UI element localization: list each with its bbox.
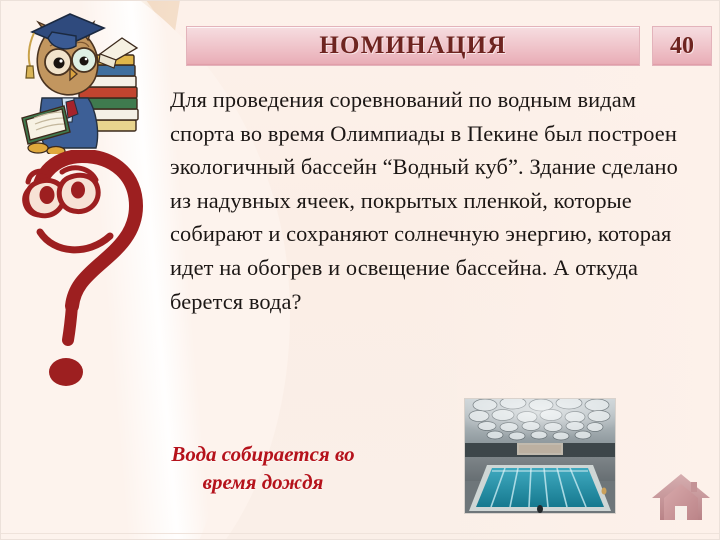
smiling-question-mark-icon [10, 150, 162, 398]
answer-text: Вода собирается во время дождя [88, 440, 438, 496]
answer-line-2: время дождя [88, 468, 438, 496]
home-button[interactable] [650, 468, 712, 526]
question-text: Для проведения соревнований по водным ви… [170, 83, 692, 318]
answer-line-1: Вода собирается во [88, 440, 438, 468]
score-badge[interactable]: 40 [652, 26, 712, 66]
bottom-divider [0, 533, 720, 534]
swimming-pool-photo [464, 398, 616, 514]
slide-canvas: НОМИНАЦИЯ 40 Для проведения соревнований… [0, 0, 720, 540]
owl-with-books-icon [4, 2, 146, 154]
nomination-title-banner: НОМИНАЦИЯ [186, 26, 640, 66]
page-title: НОМИНАЦИЯ [319, 32, 506, 60]
score-value: 40 [670, 33, 694, 60]
